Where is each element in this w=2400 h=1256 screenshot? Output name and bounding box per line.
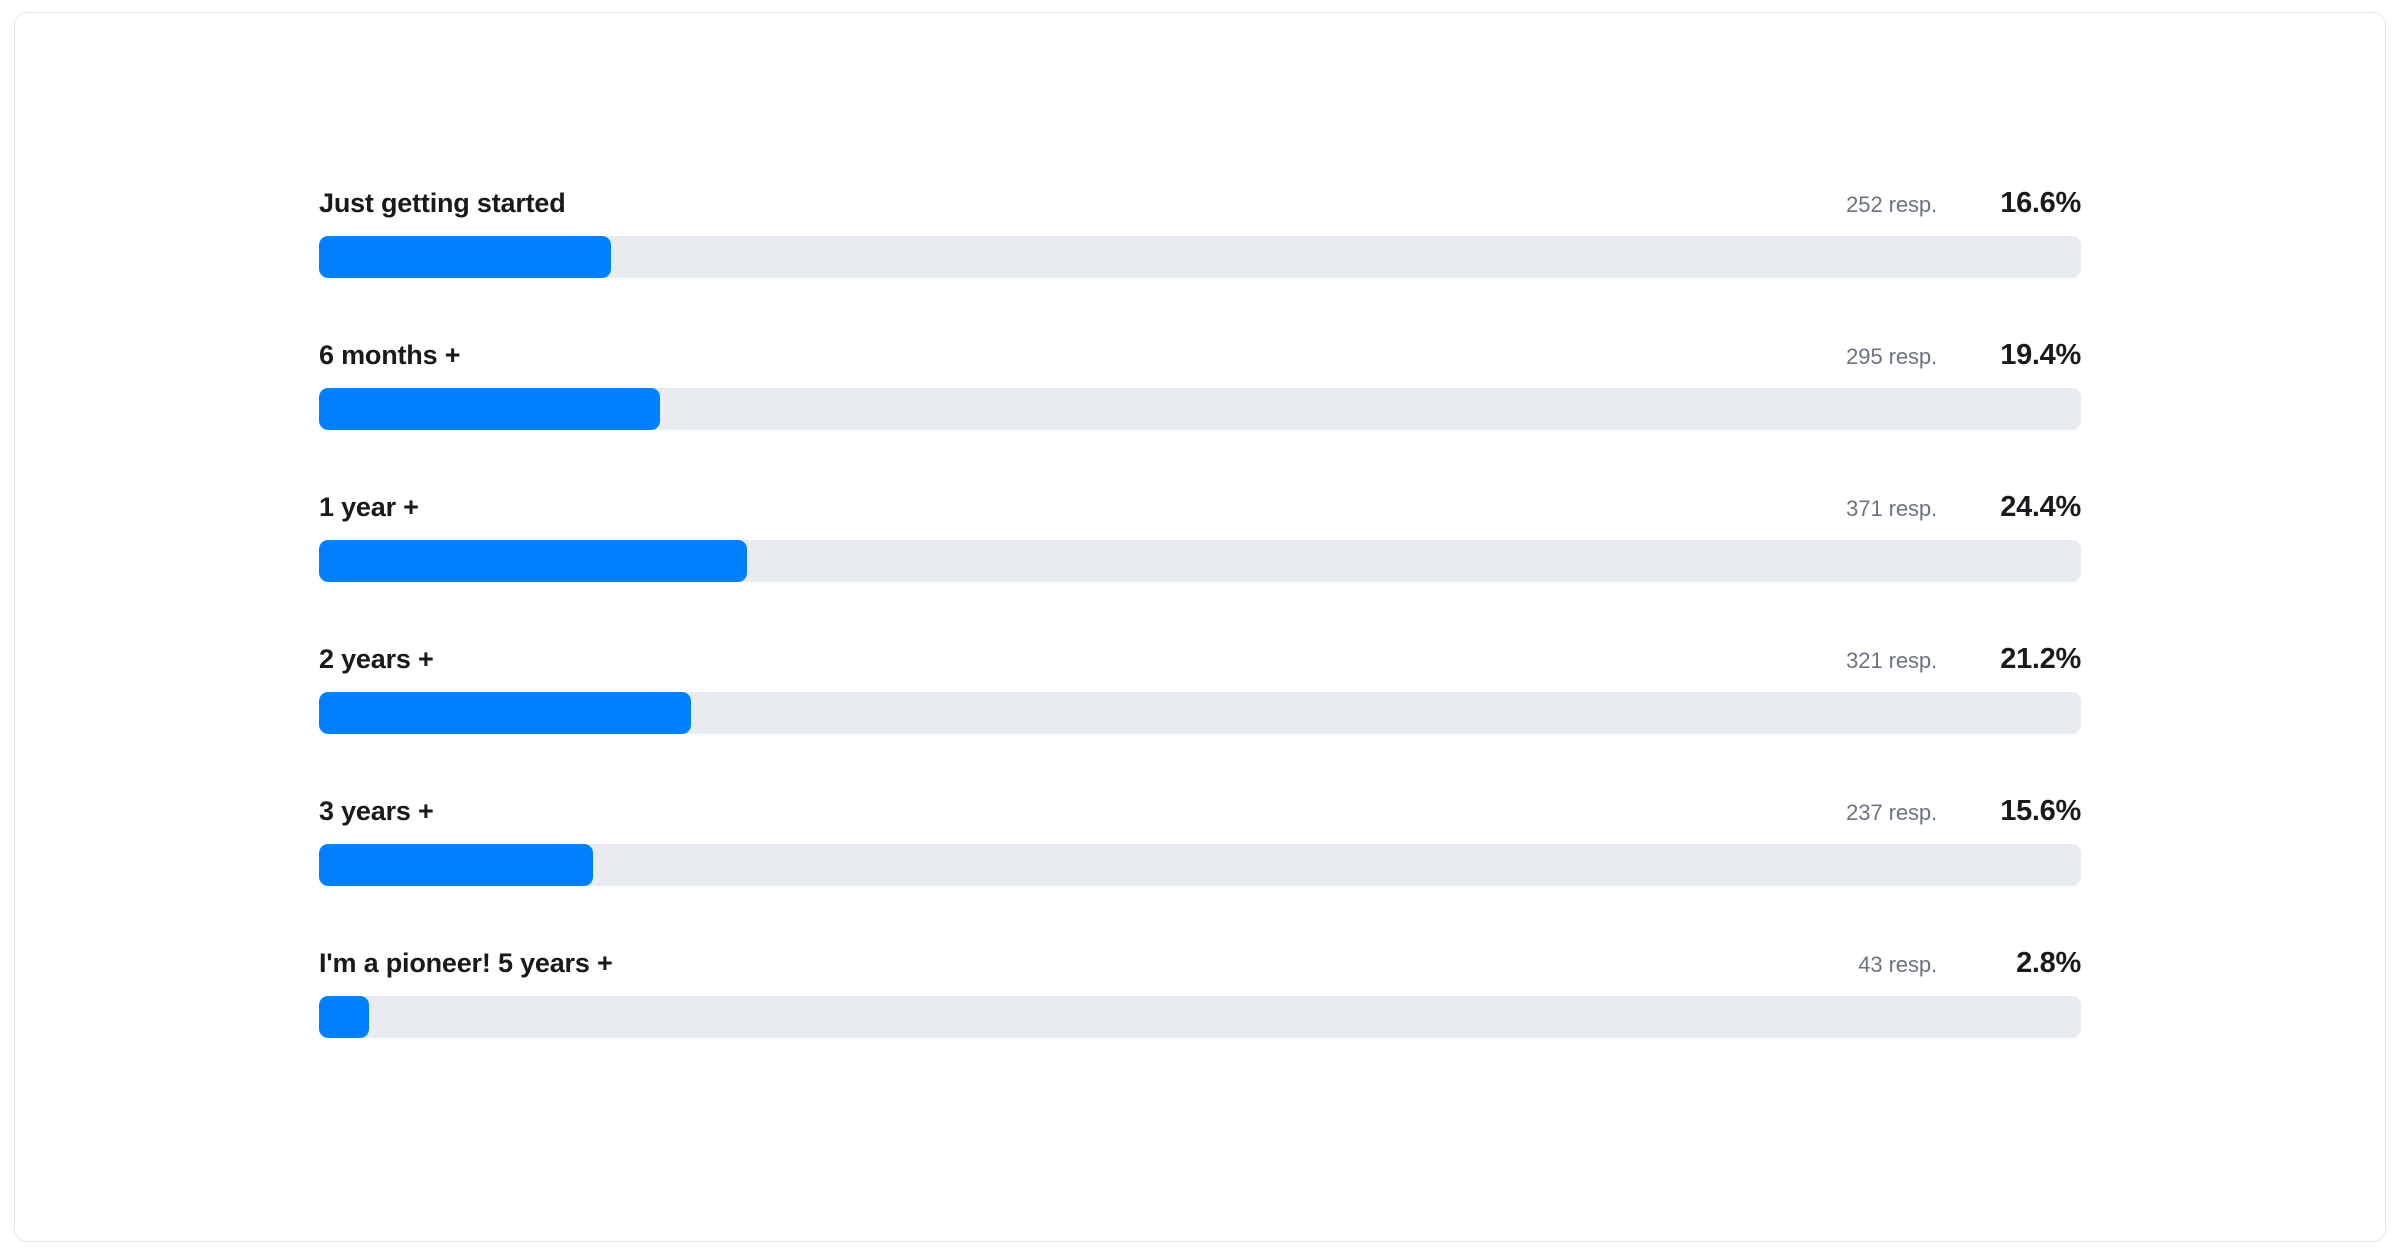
progress-track bbox=[319, 388, 2081, 430]
progress-track bbox=[319, 540, 2081, 582]
result-row-stats: 371 resp. 24.4% bbox=[1846, 487, 2081, 529]
result-row-response-count: 321 resp. bbox=[1846, 641, 1937, 681]
result-row[interactable]: 3 years + 237 resp. 15.6% bbox=[319, 791, 2081, 886]
progress-bar bbox=[319, 692, 691, 734]
result-row-percent: 24.4% bbox=[1963, 487, 2081, 527]
result-row-percent: 2.8% bbox=[1963, 943, 2081, 983]
page-root: Just getting started 252 resp. 16.6% 6 m… bbox=[0, 0, 2400, 1256]
progress-track bbox=[319, 236, 2081, 278]
result-row-label: 2 years + bbox=[319, 639, 434, 679]
result-row-header: I'm a pioneer! 5 years + 43 resp. 2.8% bbox=[319, 943, 2081, 983]
result-row[interactable]: I'm a pioneer! 5 years + 43 resp. 2.8% bbox=[319, 943, 2081, 1038]
progress-bar bbox=[319, 996, 369, 1038]
result-row-stats: 252 resp. 16.6% bbox=[1846, 183, 2081, 225]
result-row-stats: 295 resp. 19.4% bbox=[1846, 335, 2081, 377]
result-row-stats: 43 resp. 2.8% bbox=[1858, 943, 2081, 985]
progress-bar bbox=[319, 236, 611, 278]
result-row-label: Just getting started bbox=[319, 183, 566, 223]
result-row[interactable]: Just getting started 252 resp. 16.6% bbox=[319, 183, 2081, 278]
result-row-label: I'm a pioneer! 5 years + bbox=[319, 943, 613, 983]
progress-track bbox=[319, 844, 2081, 886]
result-row-label: 6 months + bbox=[319, 335, 460, 375]
result-row[interactable]: 1 year + 371 resp. 24.4% bbox=[319, 487, 2081, 582]
progress-bar bbox=[319, 540, 747, 582]
progress-track bbox=[319, 996, 2081, 1038]
result-row-header: 2 years + 321 resp. 21.2% bbox=[319, 639, 2081, 679]
result-row-response-count: 252 resp. bbox=[1846, 185, 1937, 225]
horizontal-bar-chart: Just getting started 252 resp. 16.6% 6 m… bbox=[319, 183, 2081, 1038]
result-row-stats: 321 resp. 21.2% bbox=[1846, 639, 2081, 681]
result-row-response-count: 295 resp. bbox=[1846, 337, 1937, 377]
result-row-header: 6 months + 295 resp. 19.4% bbox=[319, 335, 2081, 375]
result-row-label: 1 year + bbox=[319, 487, 419, 527]
result-row-percent: 15.6% bbox=[1963, 791, 2081, 831]
result-row[interactable]: 6 months + 295 resp. 19.4% bbox=[319, 335, 2081, 430]
result-row-percent: 16.6% bbox=[1963, 183, 2081, 223]
result-row-header: Just getting started 252 resp. 16.6% bbox=[319, 183, 2081, 223]
result-row-stats: 237 resp. 15.6% bbox=[1846, 791, 2081, 833]
result-row-percent: 19.4% bbox=[1963, 335, 2081, 375]
result-row-response-count: 371 resp. bbox=[1846, 489, 1937, 529]
progress-track bbox=[319, 692, 2081, 734]
result-row-header: 3 years + 237 resp. 15.6% bbox=[319, 791, 2081, 831]
results-card: Just getting started 252 resp. 16.6% 6 m… bbox=[14, 12, 2386, 1242]
result-row-response-count: 43 resp. bbox=[1858, 945, 1937, 985]
result-row[interactable]: 2 years + 321 resp. 21.2% bbox=[319, 639, 2081, 734]
progress-bar bbox=[319, 844, 593, 886]
progress-bar bbox=[319, 388, 660, 430]
result-row-label: 3 years + bbox=[319, 791, 434, 831]
result-row-response-count: 237 resp. bbox=[1846, 793, 1937, 833]
result-row-percent: 21.2% bbox=[1963, 639, 2081, 679]
result-row-header: 1 year + 371 resp. 24.4% bbox=[319, 487, 2081, 527]
